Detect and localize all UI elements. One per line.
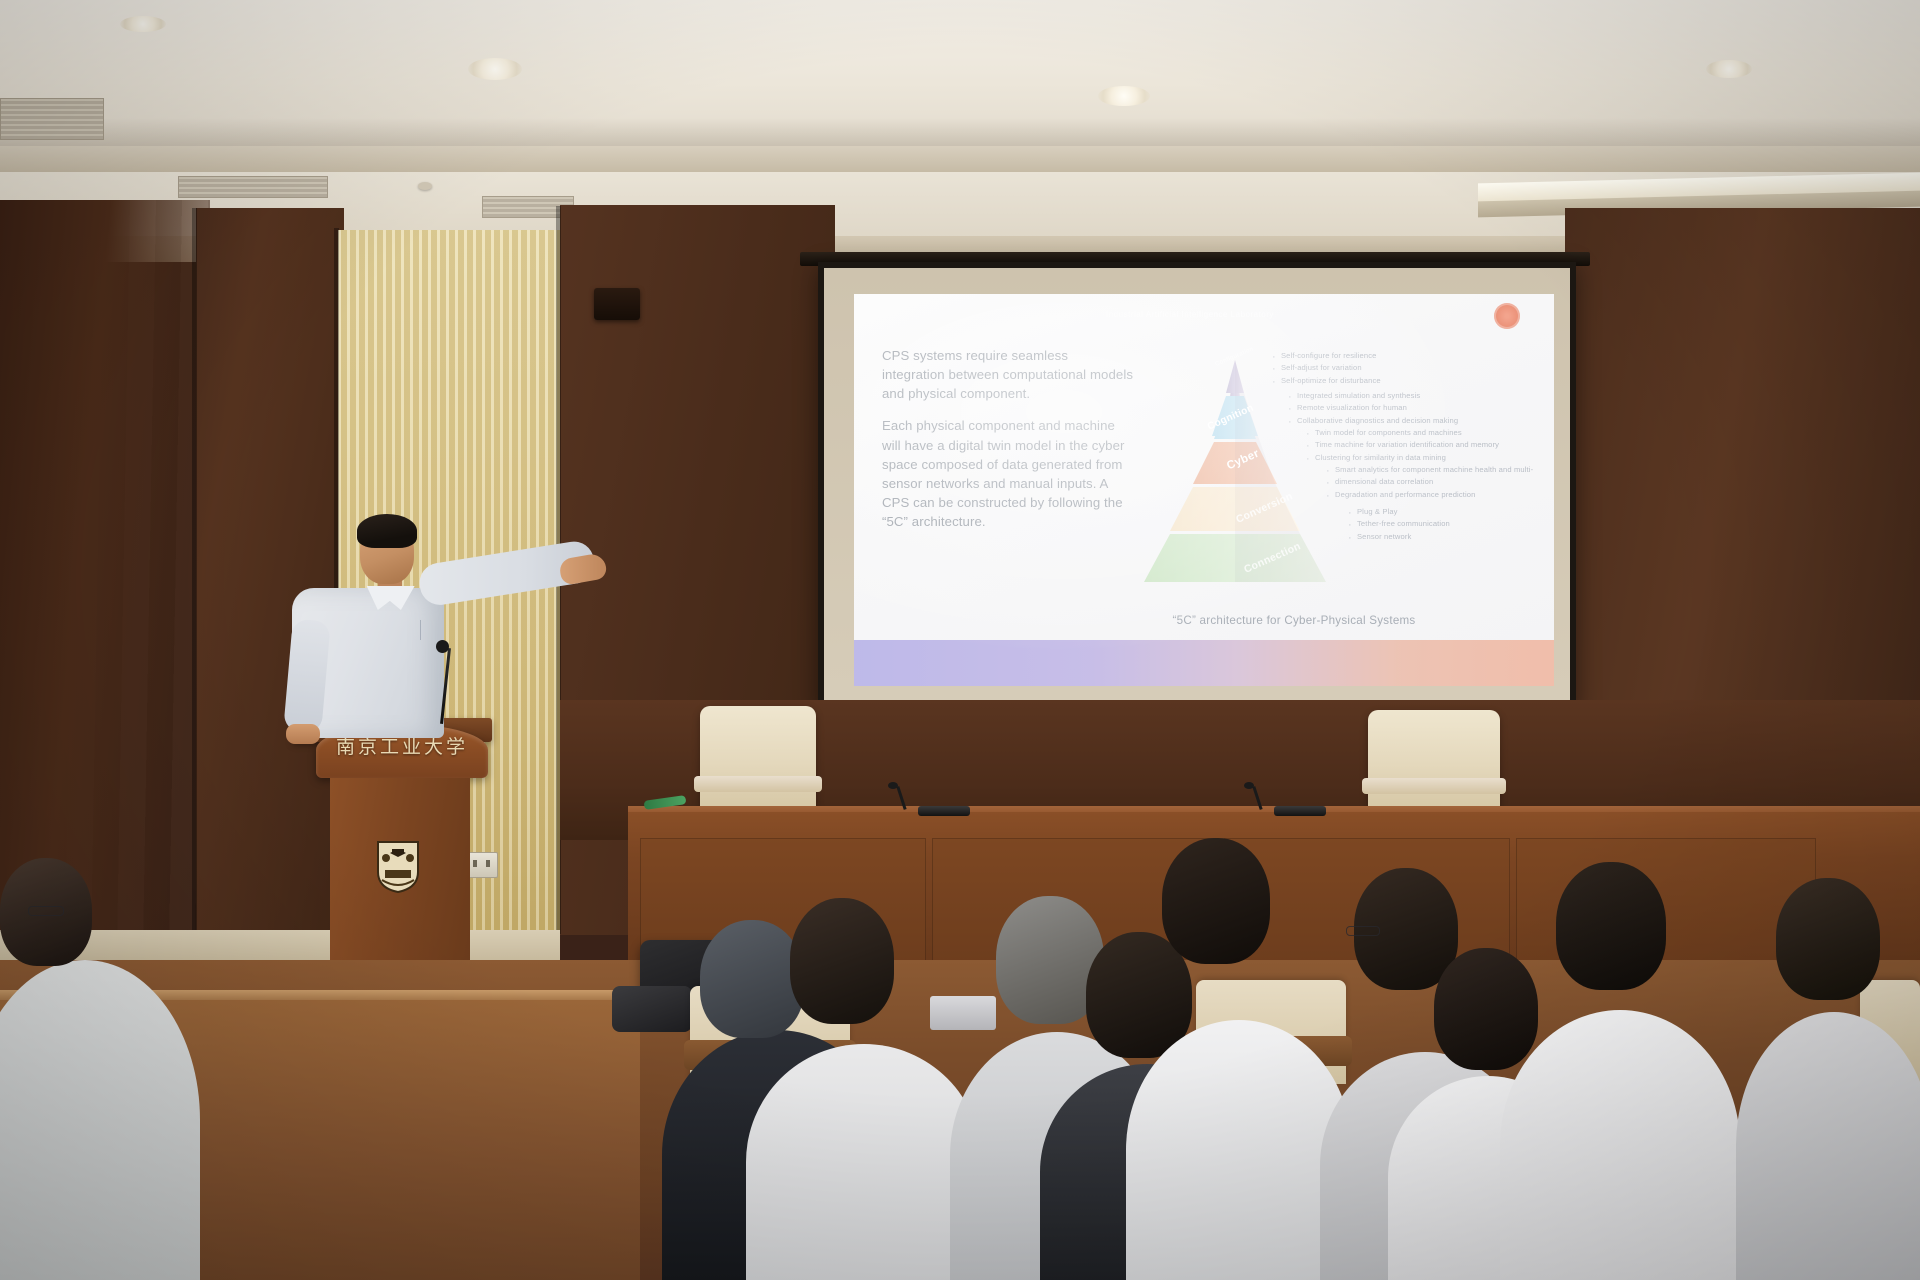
bullet-item: Smart analytics for component machine he… [1324,464,1533,476]
bullet-item: Tether-free communication [1346,518,1450,530]
ceiling-beam [0,146,1920,172]
panel-chair-arm [694,776,822,792]
bullet-group-cyber: Twin model for components and machines T… [1304,427,1499,464]
slide-footer-band [854,640,1554,686]
table-mic-head [1244,782,1254,789]
air-vent [0,98,104,140]
screen-surface: CPS systems require seamless integration… [824,268,1570,704]
table-mic-head [888,782,898,789]
wall-left-dark [196,208,344,948]
wall-speaker [594,288,640,320]
slide-footer-logo-icon [1494,303,1520,329]
university-crest-icon [376,840,420,894]
table-mic-base [918,806,970,816]
bullet-item: Self-optimize for disturbance [1270,375,1381,387]
bullet-group-configuration: Self-configure for resilience Self-adjus… [1270,350,1381,387]
bullet-group-cognition: Integrated simulation and synthesis Remo… [1286,390,1458,427]
audience-shoulders [1736,1012,1920,1280]
bullet-item-continuation: dimensional data correlation [1324,476,1533,488]
bullet-item: Plug & Play [1346,506,1450,518]
downlight-icon [468,58,522,80]
audience-head [790,898,894,1024]
slide-body-text: CPS systems require seamless integration… [882,346,1134,544]
wall-right-dark [1565,208,1920,728]
projection-screen: CPS systems require seamless integration… [818,262,1576,710]
laptop-device [930,996,996,1030]
slide-footer-label: Industrial Artificial Intelligence Labor… [1106,310,1274,319]
panel-chair-arm [1362,778,1506,794]
lecture-hall-photo: CPS systems require seamless integration… [0,0,1920,1280]
slide-caption: “5C” architecture for Cyber-Physical Sys… [1104,614,1484,627]
table-mic-base [1274,806,1326,816]
audience-shoulders [1500,1010,1740,1280]
audience-head [700,920,804,1038]
audience-head [1776,878,1880,1000]
downlight-icon [1098,86,1150,106]
audience-head [1556,862,1666,990]
smoke-detector-icon [418,182,432,190]
bullet-item: Integrated simulation and synthesis [1286,390,1458,402]
bullet-item: Self-configure for resilience [1270,350,1381,362]
wall-left-wood [0,200,210,960]
bag [612,986,692,1032]
slide-paragraph-1: CPS systems require seamless integration… [882,346,1134,403]
bullet-item: Clustering for similarity in data mining [1304,452,1499,464]
panel-chair [1368,710,1500,810]
audience-head [1434,948,1538,1070]
slide-paragraph-2: Each physical component and machine will… [882,416,1134,531]
eyeglasses-icon [28,906,64,916]
panel-chair [700,706,816,810]
audience-head [1162,838,1270,964]
presenter-hand-on-lectern [286,724,320,744]
bullet-group-conversion: Smart analytics for component machine he… [1324,464,1533,501]
bullet-group-connection: Plug & Play Tether-free communication Se… [1346,506,1450,543]
presentation-slide: CPS systems require seamless integration… [854,294,1554,686]
eyeglasses-icon [1346,926,1380,936]
bullet-item: Twin model for components and machines [1304,427,1499,439]
audience-shoulders [746,1044,982,1280]
wall-seam [192,208,197,950]
presenter-hair [357,514,417,548]
lectern-mic-head [436,640,449,653]
presenter-shirt-pocket [420,620,436,640]
downlight-icon [120,16,166,32]
bullet-item: Time machine for variation identificatio… [1304,439,1499,451]
bullet-item: Degradation and performance prediction [1324,489,1533,501]
bullet-item: Self-adjust for variation [1270,362,1381,374]
audience-shoulders [1126,1020,1352,1280]
bullet-item: Sensor network [1346,531,1450,543]
downlight-icon [1706,60,1752,78]
bullet-item: Remote visualization for human [1286,402,1458,414]
air-vent [178,176,328,198]
bullet-item: Collaborative diagnostics and decision m… [1286,415,1458,427]
